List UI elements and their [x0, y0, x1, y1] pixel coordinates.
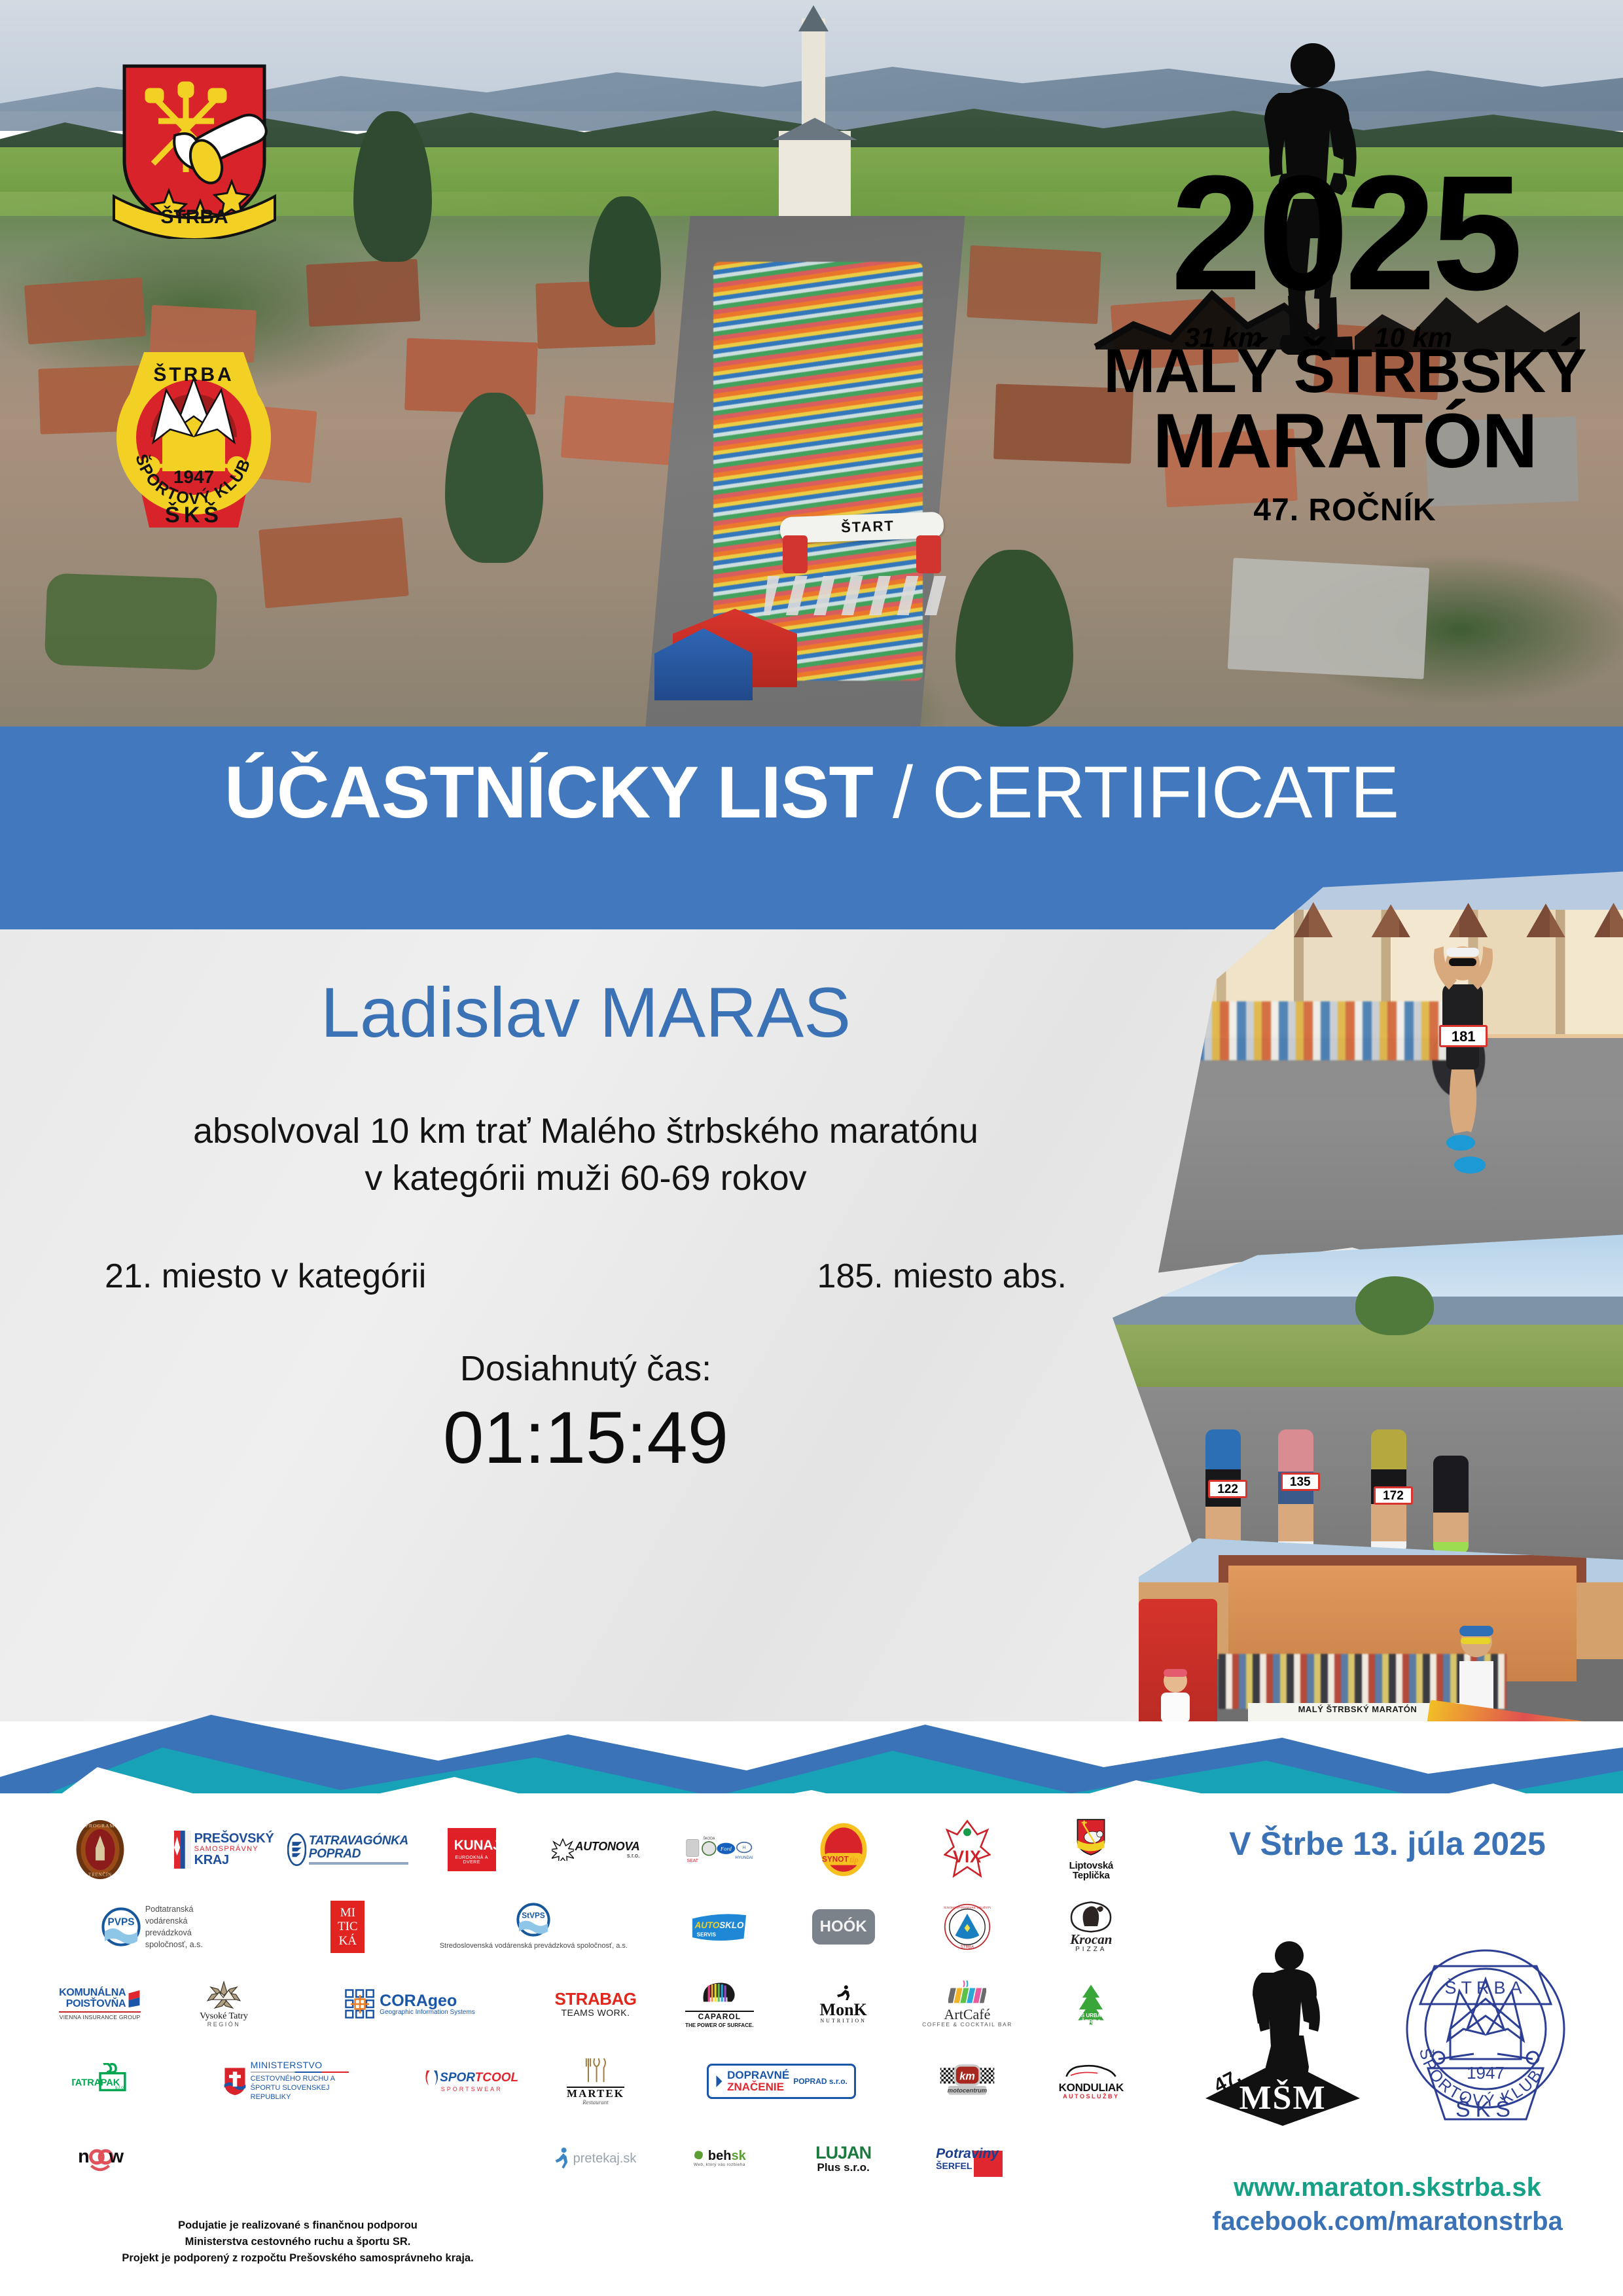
msm-abbrev: MŠM: [1239, 2079, 1326, 2117]
sponsor-logo-presovsky-kraj[interactable]: PREŠOVSKÝ SAMOSPRÁVNY KRAJ: [163, 1813, 284, 1886]
sportcool-swoosh-icon: [425, 2070, 438, 2087]
title-slovak: ÚČASTNÍCKY LIST: [224, 751, 873, 833]
sponsor-logo-kondulak[interactable]: KONDULIAK AUTOSLUŽBY: [1031, 2045, 1152, 2118]
running-man-icon: [835, 1984, 852, 2000]
place-in-category: 21. miesto v kategórii: [105, 1257, 426, 1296]
club-top-text: ŠTRBA: [153, 363, 234, 386]
sponsor-name: CAPAROL: [685, 2011, 753, 2021]
certificate-title: ÚČASTNÍCKY LIST / CERTIFICATE: [0, 750, 1623, 834]
footer-right-column: V Štrbe 13. júla 2025 MŠM 47.: [1171, 1806, 1603, 2291]
sponsor-sub: Teplička: [1069, 1871, 1113, 1881]
start-arch-leg-left: [783, 535, 808, 573]
achievement-line2: v kategórii muži 60-69 rokov: [0, 1155, 1171, 1202]
sponsor-name: SPORTCOOL: [440, 2072, 518, 2085]
sks-stamp-abbrev: ŠKŠ: [1455, 2097, 1516, 2122]
sponsor-logo-stvps[interactable]: StVPS Stredoslovenská vodárenská prevádz…: [411, 1890, 656, 1964]
sponsor-sub: NUTRITION: [820, 2018, 867, 2024]
start-arch: ŠTART: [780, 514, 944, 572]
roof: [259, 518, 409, 609]
marathon-edition: 47. ROČNÍK: [1086, 492, 1603, 528]
autosklo-servis-icon: AUTOSKLO SERVIS: [690, 1910, 749, 1943]
car-brands-icon: SEAT ŠKODA Ford H HYUNDAI: [685, 1833, 753, 1866]
svg-text:ŠKODA: ŠKODA: [704, 1836, 716, 1840]
crosswalk: [764, 576, 951, 615]
svg-text:motocentrum: motocentrum: [948, 2087, 988, 2094]
certificate-text-block: Ladislav MARAS absolvoval 10 km trať Mal…: [0, 975, 1171, 1480]
bib-number: 181: [1439, 1025, 1488, 1047]
sponsor-name: HOÓK: [820, 1918, 867, 1935]
sks-stamp-top: ŠTRBA: [1444, 1977, 1526, 1998]
sponsor-logo-synottip[interactable]: SYNOT tip: [783, 1813, 904, 1886]
sponsor-name: AUTONOVA: [575, 1840, 640, 1853]
runner-name: Ladislav MARAS: [0, 975, 1171, 1049]
turkey-icon: [1068, 1900, 1114, 1933]
liptovska-teplicka-crest-icon: [1076, 1818, 1106, 1856]
grant-note-line1: Podujatie je realizované s finančnou pod…: [49, 2217, 546, 2234]
svg-text:SYNOT: SYNOT: [822, 1855, 849, 1864]
svg-text:n: n: [78, 2146, 90, 2167]
sponsor-logo-liptovska-teplicka[interactable]: Liptovská Teplička: [1031, 1813, 1152, 1886]
sponsor-logo-monk-nutrition[interactable]: MonK NUTRITION: [783, 1967, 904, 2041]
noow-icon: n w: [75, 2144, 126, 2173]
sponsor-sub: ŠERFEL: [936, 2161, 999, 2171]
tree: [1355, 1276, 1434, 1335]
svg-text:tip: tip: [849, 1855, 858, 1864]
sponsor-name: MINISTERSTVO: [251, 2060, 349, 2070]
svg-text:SERVIS: SERVIS: [697, 1931, 717, 1937]
corageo-grid-icon: [344, 1988, 376, 2020]
sponsor-logo-potraviny-serfel[interactable]: Potraviny ŠERFEL: [906, 2122, 1027, 2195]
sponsor-sub: Plus s.r.o.: [815, 2162, 871, 2174]
club-abbrev: ŠKŠ: [165, 502, 223, 528]
photo-finisher-woman: 181: [1158, 870, 1623, 1289]
svg-text:TATRA: TATRA: [72, 2077, 101, 2088]
svg-text:StVPS: StVPS: [522, 1911, 546, 1920]
sponsor-name: MARTEK: [567, 2087, 624, 2100]
coat-of-arms-label: ŠTRBA: [160, 206, 228, 228]
grass: [1113, 1325, 1623, 1394]
sponsor-sub: TEAMS WORK.: [554, 2008, 636, 2018]
sponsor-sub: REGIÓN: [200, 2022, 248, 2028]
sponsor-logo-grid: PROGRAM TRENČÍN PREŠOVSKÝ SAMOSPRÁVNY: [39, 1813, 1152, 2206]
sponsor-logo-noow[interactable]: n w: [39, 2122, 160, 2195]
strba-coat-of-arms: ŠTRBA: [113, 62, 276, 239]
sponsor-sub: COFFEE & COCKTAIL BAR: [922, 2022, 1012, 2028]
sponsor-sub: POISŤOVŇA: [59, 1999, 126, 2010]
roof: [561, 395, 676, 465]
sponsor-name: DOPRAVNÉ: [727, 2070, 789, 2081]
sponsor-name: TATRAVAGÓNKA: [309, 1835, 408, 1848]
bib-number: 172: [1374, 1486, 1413, 1505]
tatrapak-gift-icon: TATRA PAK s.r.o.: [72, 2063, 128, 2097]
grant-note-line3: Projekt je podporený z rozpočtu Prešovsk…: [49, 2250, 546, 2267]
svg-text:AUTOSKLO: AUTOSKLO: [694, 1920, 744, 1930]
sponsor-name: VIX: [953, 1848, 982, 1867]
sponsor-name: MonK: [820, 2001, 867, 2018]
sponsor-logo-kunaj[interactable]: KUNAJ EUROOKNÁ A DVERE: [411, 1813, 532, 1886]
sponsor-name: Vysoké Tatry: [200, 2012, 248, 2022]
sponsor-sub: AUTOSLUŽBY: [1059, 2094, 1124, 2100]
sponsor-logo-vysoke-tatry[interactable]: Vysoké Tatry REGIÓN: [163, 1967, 284, 2041]
bib-number: 122: [1208, 1480, 1247, 1498]
svg-text:Ford: Ford: [720, 1846, 732, 1852]
stvps-icon: StVPS: [516, 1903, 550, 1937]
website-url[interactable]: www.maraton.skstrba.sk: [1171, 2173, 1603, 2202]
svg-text:PROGRAM: PROGRAM: [85, 1823, 115, 1829]
spacer: [411, 2122, 532, 2195]
sponsor-logo-car-brands[interactable]: SEAT ŠKODA Ford H HYUNDAI: [659, 1813, 780, 1886]
sponsor-logo-artcafe[interactable]: ArtCafé COFFEE & COCKTAIL BAR: [906, 1967, 1027, 2041]
title-separator: /: [873, 751, 932, 833]
sponsor-sub2: POPRAD s.r.o.: [793, 2077, 847, 2086]
sponsor-logo-tatrapak[interactable]: TATRA PAK s.r.o.: [39, 2045, 160, 2118]
roof: [24, 278, 146, 344]
sponsor-logo-lujan-plus[interactable]: LUJAN Plus s.r.o.: [783, 2122, 904, 2195]
sponsor-sub: ZNAČENIE: [727, 2081, 789, 2093]
certificate-page: ŠTART: [0, 0, 1623, 2296]
slovak-crest-icon: [223, 2066, 247, 2096]
artcafe-stripes-icon: [948, 1981, 986, 2004]
sponsor-name: MI TIC KÁ: [330, 1901, 365, 1953]
edelweiss-icon: [205, 1981, 242, 2009]
sponsor-logo-autonova[interactable]: AUTONOVA s.r.o.: [535, 1813, 656, 1886]
sponsor-sub: Stredoslovenská vodárenská prevádzková s…: [440, 1941, 628, 1951]
sponsor-sub: Geographic Information Systems: [380, 2009, 475, 2017]
burst-icon: [552, 1839, 574, 1861]
svg-text:PVPS: PVPS: [107, 1917, 134, 1928]
sponsor-logo-krocan-pizza[interactable]: Krocan PIZZA: [1031, 1890, 1152, 1964]
sponsor-sub: THE POWER OF SURFACE.: [685, 2023, 753, 2028]
svg-text:w: w: [108, 2146, 124, 2167]
finish-time: 01:15:49: [0, 1395, 1171, 1480]
svg-text:HYUNDAI: HYUNDAI: [736, 1856, 753, 1860]
svg-text:H: H: [743, 1846, 746, 1850]
sponsor-name: ArtCafé: [922, 2007, 1012, 2022]
sponsor-logo-ministerstvo[interactable]: MINISTERSTVO CESTOVNÉHO RUCHU A ŠPORTU S…: [163, 2045, 408, 2118]
cutlery-icon: [581, 2057, 610, 2083]
sks-stamp-year: 1947: [1467, 2063, 1505, 2083]
arrow-icon: [715, 2074, 723, 2089]
synottip-icon: SYNOT tip: [819, 1821, 868, 1878]
sponsor-logo-hook[interactable]: HOÓK: [783, 1890, 904, 1964]
sponsor-name: PREŠOVSKÝ: [194, 1832, 274, 1846]
sponsor-sub: Web, ktorý vás rozbieha: [693, 2163, 746, 2168]
sponsor-logo-pd-strba[interactable]: ŠTRBA POĽNOHOSPODÁRSKE DRUŽSTVO: [906, 1890, 1027, 1964]
runner-icon: [555, 2147, 571, 2170]
facebook-url[interactable]: facebook.com/maratonstrba: [1171, 2207, 1603, 2236]
photo-collage: 181 122 135 172: [1113, 870, 1623, 1721]
marathon-logo: 2025 31 km 10 km MALÝ ŠTRBSKÝ MARATÓN 47…: [1073, 26, 1616, 602]
sponsor-sub2: KRAJ: [194, 1854, 274, 1867]
achievement-line1: absolvoval 10 km trať Malého štrbského m…: [0, 1108, 1171, 1155]
athlete-silhouette-icon: [1420, 929, 1505, 1191]
pvps-icon: PVPS: [101, 1907, 141, 1946]
sponsor-logo-komunalna-poistovna[interactable]: KOMUNÁLNA POISŤOVŇA VIENNA INSURANCE GRO…: [39, 1967, 160, 2041]
program-trencin-icon: PROGRAM TRENČÍN: [75, 1817, 126, 1882]
sponsor-logo-pretekaj-sk[interactable]: pretekaj.sk: [535, 2122, 656, 2195]
sponsor-logo-pvps[interactable]: PVPS Podtatranská vodárenská prevádzková…: [39, 1890, 285, 1964]
sks-club-logo: ŠTRBA 1947 ŠPORTOVÝ KLUB ŠKŠ: [110, 340, 277, 530]
sponsor-sub: CESTOVNÉHO RUCHU A ŠPORTU SLOVENSKEJ REP…: [251, 2074, 349, 2102]
car-outline-icon: [1064, 2063, 1118, 2080]
sponsor-name: Liptovská: [1069, 1861, 1113, 1871]
svg-text:TRENČÍN: TRENČÍN: [88, 1873, 112, 1878]
sponsor-logo-sportcool[interactable]: SPORTCOOL SPORTSWEAR: [411, 2045, 532, 2118]
title-english: CERTIFICATE: [932, 751, 1399, 833]
club-year: 1947: [173, 467, 214, 487]
sponsor-name: Potraviny: [936, 2147, 999, 2161]
sponsor-name: Krocan: [1068, 1932, 1114, 1946]
placement-row: 21. miesto v kategórii 185. miesto abs.: [0, 1257, 1171, 1296]
sponsor-name: pretekaj.sk: [573, 2152, 637, 2166]
sponsor-logo-corageo[interactable]: CORAgeo Geographic Information Systems: [287, 1967, 533, 2041]
sponsor-logo-martek[interactable]: MARTEK Restaurant: [535, 2045, 656, 2118]
sponsor-sub: PIZZA: [1068, 1946, 1114, 1954]
sponsor-name: STRABAG: [554, 1990, 636, 2008]
achievement-text: absolvoval 10 km trať Malého štrbského m…: [0, 1108, 1171, 1202]
hero-photo: ŠTART: [0, 0, 1623, 726]
sponsor-sub: Podtatranská vodárenská prevádzková spol…: [145, 1903, 223, 1951]
sponsor-logo-dopravne-znacenie[interactable]: DOPRAVNÉ ZNAČENIE POPRAD s.r.o.: [659, 2045, 904, 2118]
footer: PROGRAM TRENČÍN PREŠOVSKÝ SAMOSPRÁVNY: [0, 1793, 1623, 2296]
bib-number: 135: [1281, 1473, 1320, 1491]
roofs: [1158, 901, 1623, 937]
sponsor-logo-beh-sk[interactable]: behsk Web, ktorý vás rozbieha: [659, 2122, 780, 2195]
km-motocentrum-icon: km motocentrum: [939, 2063, 995, 2100]
sponsor-sub: ŠTRBA: [1076, 2019, 1106, 2025]
svg-text:SEAT: SEAT: [687, 1859, 699, 1863]
sponsor-sub: POPRAD: [309, 1848, 408, 1861]
sponsor-logo-km-motocentrum[interactable]: km motocentrum: [906, 2045, 1027, 2118]
sponsor-name: KONDULIAK: [1059, 2082, 1124, 2094]
spacer: [163, 2122, 284, 2195]
sponsor-sub: Restaurant: [567, 2100, 624, 2106]
svg-text:s.r.o.: s.r.o.: [115, 2085, 125, 2090]
marathon-name-line1: MALÝ ŠTRBSKÝ: [1086, 340, 1603, 403]
sponsor-name: CORAgeo: [380, 1992, 475, 2009]
presov-flag-icon: [174, 1830, 191, 1869]
sponsor-name: KUNAJ: [454, 1839, 490, 1853]
msm-stamp: MŠM 47.: [1191, 1931, 1374, 2127]
grant-note: Podujatie je realizované s finančnou pod…: [49, 2217, 546, 2266]
tatravagonka-mark-icon: [287, 1828, 306, 1871]
sponsor-sub: EUROOKNÁ A DVERE: [454, 1856, 490, 1865]
sponsor-logo-caparol[interactable]: CAPAROL THE POWER OF SURFACE.: [659, 1967, 780, 2041]
sponsor-sub: s.r.o.: [575, 1853, 640, 1859]
time-label: Dosiahnutý čas:: [0, 1348, 1171, 1389]
pd-strba-icon: ŠTRBA POĽNOHOSPODÁRSKE DRUŽSTVO: [944, 1903, 991, 1950]
runner-icon: [693, 2150, 706, 2163]
spacer: [1031, 2122, 1152, 2195]
sponsor-sub2: VIENNA INSURANCE GROUP: [59, 2015, 141, 2020]
sponsor-logo-tatravagonka[interactable]: TATRAVAGÓNKA POPRAD: [287, 1813, 408, 1886]
sponsor-logo-vix[interactable]: VIX: [906, 1813, 1027, 1886]
sponsor-name: KOMUNÁLNA: [59, 1988, 126, 1999]
spectators: [1178, 1001, 1459, 1060]
event-date: V Štrbe 13. júla 2025: [1171, 1825, 1603, 1863]
svg-text:km: km: [959, 2070, 975, 2082]
sks-stamp: ŠTRBA 1947 ŠPORTOVÝ KLUB ŠKŠ: [1387, 1931, 1584, 2127]
sponsor-logo-ps-urbar-strba[interactable]: PS URBÁR ŠTRBA: [1031, 1967, 1152, 2041]
runner-silhouette: [1433, 1456, 1469, 1554]
sponsor-logo-program-trencin[interactable]: PROGRAM TRENČÍN: [39, 1813, 160, 1886]
tree-cluster: [45, 573, 218, 671]
sponsor-name: LUJAN: [815, 2144, 871, 2162]
marathon-name-line2: MARATÓN: [1086, 403, 1603, 480]
photo-group-runners: 122 135 172: [1113, 1234, 1623, 1581]
place-absolute: 185. miesto abs.: [817, 1257, 1067, 1296]
sponsor-logo-autosklo-servis[interactable]: AUTOSKLO SERVIS: [659, 1890, 780, 1964]
vix-icon: VIX: [944, 1819, 991, 1880]
sponsor-logo-strabag[interactable]: STRABAG TEAMS WORK.: [535, 1967, 656, 2041]
caparol-elephant-icon: [700, 1980, 738, 2007]
svg-text:ŠTRBA: ŠTRBA: [961, 1945, 974, 1949]
runner-silhouette: [1278, 1429, 1313, 1554]
roof: [306, 259, 421, 327]
komunalna-mark-icon: [128, 1990, 141, 2008]
sponsor-logo-miticka[interactable]: MI TIC KÁ: [287, 1890, 408, 1964]
sponsor-sub: SPORTSWEAR: [425, 2087, 518, 2092]
start-arch-leg-right: [916, 535, 941, 573]
spacer: [287, 2122, 408, 2195]
grant-note-line2: Ministerstva cestovného ruchu a športu S…: [49, 2234, 546, 2250]
